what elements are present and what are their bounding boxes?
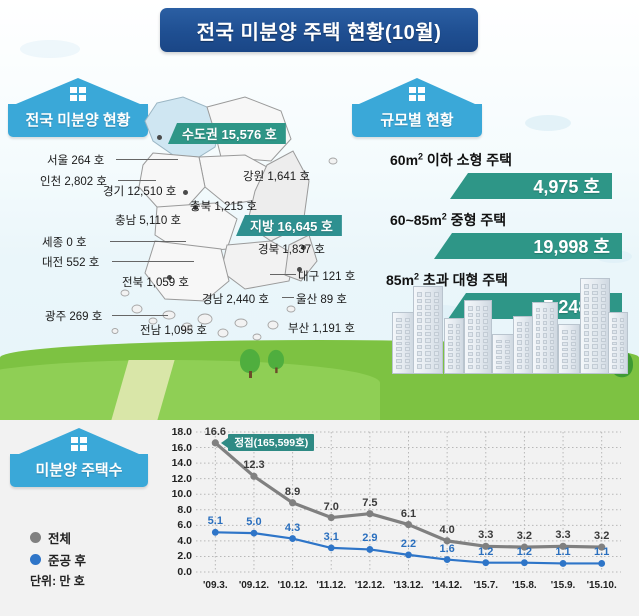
- legend-label-after-completion: 준공 후: [48, 550, 86, 569]
- map-label-sejong: 세종 0 호: [42, 234, 87, 250]
- chart-series: [212, 439, 606, 567]
- house-roof-icon: [19, 428, 139, 454]
- legend-dot-after-completion: [30, 554, 41, 565]
- x-tick-label: '14.12.: [432, 580, 462, 591]
- chart-panel: 미분양 주택수 전체 준공 후 단위: 만 호 18.016.014.012.0…: [0, 420, 639, 616]
- building: [608, 312, 628, 374]
- map-marker-incheon: [157, 135, 162, 140]
- series-point: [598, 560, 605, 567]
- leader-line-sejong: [110, 241, 186, 242]
- size-small-post: 이하 소형 주택: [423, 152, 512, 168]
- series-point: [212, 439, 219, 446]
- y-tick-label: 12.0: [172, 473, 192, 485]
- size-row-medium-title: 60~85m2 중형 주택: [390, 210, 622, 230]
- x-tick-label: '09.12.: [239, 580, 269, 591]
- legend-item-after-completion: 준공 후: [30, 550, 86, 569]
- map-marker-sejong: [183, 190, 188, 195]
- cloud-decoration: [20, 40, 80, 58]
- x-tick-label: '13.12.: [393, 580, 423, 591]
- building: [513, 316, 533, 374]
- peak-annotation: 정점(165,599호): [228, 434, 314, 451]
- series-point: [482, 559, 489, 566]
- house-roof-icon: [359, 78, 475, 104]
- leader-line-gwangju: [112, 315, 168, 316]
- section-tag-by-size-label: 규모별 현황: [352, 104, 482, 137]
- series-point: [521, 559, 528, 566]
- chart-x-axis: '09.3.'09.12.'10.12.'11.12.'12.12.'13.12…: [196, 580, 621, 596]
- leader-line-ulsan: [282, 297, 294, 298]
- series-point: [289, 499, 296, 506]
- x-tick-label: '11.12.: [316, 580, 346, 591]
- map-label-daegu: 대구 121 호: [298, 268, 355, 284]
- series-point: [366, 510, 373, 517]
- size-row-medium-value: 19,998 호: [434, 233, 622, 259]
- y-tick-label: 6.0: [177, 519, 192, 531]
- series-point: [250, 473, 257, 480]
- chart-y-axis: 18.016.014.012.010.08.06.04.02.00.0: [158, 432, 192, 572]
- chart-unit-note: 단위: 만 호: [30, 572, 86, 589]
- x-tick-label: '15.9.: [551, 580, 576, 591]
- building: [492, 334, 514, 374]
- building: [558, 324, 580, 374]
- map-label-gyeongbuk: 경북 1,837 호: [258, 241, 325, 257]
- series-point: [521, 544, 528, 551]
- building: [392, 312, 414, 374]
- section-tag-unsold-count-label: 미분양 주택수: [10, 454, 148, 487]
- map-label-busan: 부산 1,191 호: [288, 320, 355, 336]
- series-point: [289, 535, 296, 542]
- size-row-medium: 60~85m2 중형 주택 19,998 호: [390, 210, 622, 259]
- tree-icon: [240, 349, 260, 378]
- series-point: [212, 529, 219, 536]
- y-tick-label: 14.0: [172, 457, 192, 469]
- y-tick-label: 4.0: [177, 535, 192, 547]
- chart-plot-svg: [196, 432, 621, 572]
- cloud-decoration: [525, 115, 571, 131]
- map-panel: 전국 미분양 주택 현황(10월) 전국 미분양 현황 규모별 현황: [0, 0, 639, 420]
- map-label-gyeonggi: 경기 12,510 호: [103, 183, 176, 199]
- chart-gridlines: [196, 432, 621, 572]
- size-small-pre: 60m: [390, 152, 418, 168]
- size-row-small-value: 4,975 호: [450, 173, 612, 199]
- chart-legend: 전체 준공 후 단위: 만 호: [30, 528, 86, 589]
- map-label-incheon: 인천 2,802 호: [40, 173, 107, 189]
- map-label-jeonbuk: 전북 1,059 호: [122, 274, 189, 290]
- series-point: [251, 530, 258, 537]
- legend-label-total: 전체: [48, 528, 71, 547]
- series-point: [598, 544, 605, 551]
- x-tick-label: '10.12.: [277, 580, 307, 591]
- y-tick-label: 0.0: [177, 566, 192, 578]
- infographic-root: 전국 미분양 주택 현황(10월) 전국 미분양 현황 규모별 현황: [0, 0, 639, 616]
- series-point: [559, 543, 566, 550]
- size-row-small: 60m2 이하 소형 주택 4,975 호: [390, 150, 612, 199]
- building: [532, 302, 558, 374]
- leader-line-daejeon: [112, 261, 194, 262]
- legend-item-total: 전체: [30, 528, 86, 547]
- ribbon-capital-region: 수도권 15,576 호: [168, 123, 286, 144]
- y-tick-label: 8.0: [177, 504, 192, 516]
- page-title-banner: 전국 미분양 주택 현황(10월): [160, 8, 478, 52]
- house-window-icon: [409, 87, 425, 101]
- y-tick-label: 10.0: [172, 488, 192, 500]
- leader-line-incheon: [118, 180, 156, 181]
- map-label-ulsan: 울산 89 호: [296, 291, 347, 307]
- size-medium-pre: 60~85m: [390, 212, 442, 228]
- legend-dot-total: [30, 532, 41, 543]
- map-label-chungnam: 충남 5,110 호: [115, 212, 181, 228]
- section-tag-unsold-count: 미분양 주택수: [10, 428, 148, 487]
- series-point: [560, 560, 567, 567]
- series-point: [405, 551, 412, 558]
- ribbon-provinces-label: 지방 16,645 호: [250, 216, 333, 235]
- leader-line-seoul: [116, 159, 178, 160]
- x-tick-label: '15.8.: [512, 580, 537, 591]
- page-title: 전국 미분양 주택 현황(10월): [197, 16, 442, 45]
- x-tick-label: '15.7.: [473, 580, 498, 591]
- cityscape-illustration: [392, 274, 632, 374]
- series-point: [444, 537, 451, 544]
- map-island-ulleung: [329, 158, 337, 164]
- x-tick-label: '12.12.: [355, 580, 385, 591]
- map-label-gwangju: 광주 269 호: [45, 308, 102, 324]
- size-row-small-title: 60m2 이하 소형 주택: [390, 150, 612, 170]
- map-label-gyeongnam: 경남 2,440 호: [202, 291, 269, 307]
- y-tick-label: 18.0: [172, 426, 192, 438]
- series-point: [405, 521, 412, 528]
- y-tick-label: 16.0: [172, 442, 192, 454]
- building: [580, 278, 610, 374]
- chart-plot-area: [196, 432, 621, 572]
- building: [444, 318, 464, 374]
- leader-line-daegu: [270, 274, 296, 275]
- section-tag-by-size: 규모별 현황: [352, 78, 482, 137]
- series-point: [482, 543, 489, 550]
- building: [464, 300, 492, 374]
- x-tick-label: '15.10.: [587, 580, 617, 591]
- map-label-daejeon: 대전 552 호: [42, 254, 99, 270]
- building: [413, 286, 443, 374]
- series-point: [328, 514, 335, 521]
- ground-foreground-illustration: [0, 360, 380, 420]
- ribbon-capital-region-label: 수도권 15,576 호: [182, 124, 277, 143]
- y-tick-label: 2.0: [177, 550, 192, 562]
- series-line: [215, 443, 601, 547]
- series-point: [328, 544, 335, 551]
- peak-annotation-arrow: [221, 438, 228, 448]
- house-window-icon: [70, 87, 86, 101]
- peak-annotation-label: 정점(165,599호): [234, 435, 308, 450]
- house-window-icon: [71, 437, 87, 451]
- tree-icon: [268, 350, 284, 373]
- series-point: [444, 556, 451, 563]
- map-label-jeonnam: 전남 1,095 호: [140, 322, 207, 338]
- map-label-chungbuk: 충북 1,215 호: [190, 198, 257, 214]
- map-label-gangwon: 강원 1,641 호: [243, 168, 310, 184]
- map-label-seoul: 서울 264 호: [47, 152, 104, 168]
- ribbon-provinces: 지방 16,645 호: [236, 215, 342, 236]
- series-point: [366, 546, 373, 553]
- size-medium-post: 중형 주택: [447, 212, 506, 228]
- x-tick-label: '09.3.: [203, 580, 228, 591]
